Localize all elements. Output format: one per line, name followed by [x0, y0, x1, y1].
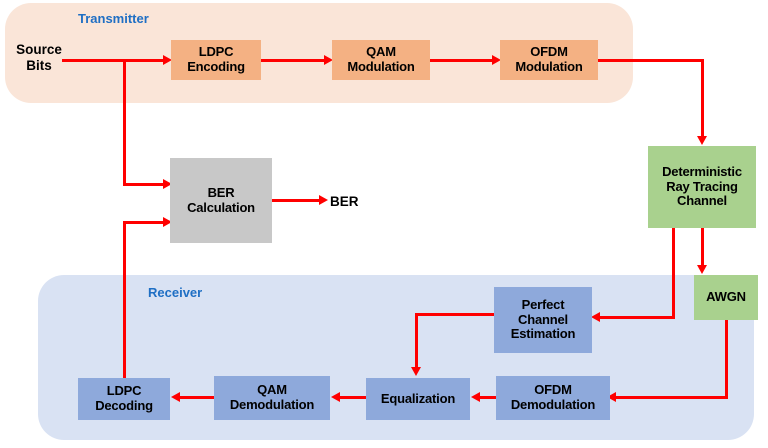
block-ldpc-encoding[interactable]: LDPC Encoding	[171, 40, 261, 80]
block-perfect-channel-estimation[interactable]: Perfect Channel Estimation	[494, 287, 592, 353]
block-qam-demodulation[interactable]: QAM Demodulation	[214, 376, 330, 420]
connector-channel-to-awgn	[701, 228, 704, 267]
block-ofdm-modulation[interactable]: OFDM Modulation	[500, 40, 598, 80]
connector-equalization-to-qam-demodulation	[339, 396, 367, 399]
connector-estimation-to-equalization-horizontal	[415, 313, 497, 316]
connector-ldpc-decoding-to-ber-horizontal	[123, 221, 167, 224]
block-label-ldpc-encoding: LDPC Encoding	[171, 45, 261, 74]
connector-awgn-to-ofdm-demodulation-horizontal	[615, 396, 727, 399]
block-deterministic-ray-tracing-channel[interactable]: Deterministic Ray Tracing Channel	[648, 146, 756, 228]
connector-awgn-to-ofdm-demodulation-vertical	[725, 320, 728, 399]
connector-qam-demodulation-to-ldpc-decoding	[179, 396, 215, 399]
block-diagram-canvas: Transmitter Receiver	[0, 0, 768, 448]
block-ber-calculation[interactable]: BER Calculation	[170, 158, 272, 243]
block-awgn[interactable]: AWGN	[694, 275, 758, 320]
block-label-qam-demodulation: QAM Demodulation	[214, 383, 330, 412]
connector-source-branch-horizontal	[123, 183, 167, 186]
label-source-bits: Source Bits	[6, 42, 72, 73]
block-qam-modulation[interactable]: QAM Modulation	[332, 40, 430, 80]
label-ber-output: BER	[330, 194, 372, 210]
block-ldpc-decoding[interactable]: LDPC Decoding	[78, 378, 170, 420]
block-label-ofdm-demodulation: OFDM Demodulation	[496, 383, 610, 412]
arrowhead-ofdm-demodulation-to-equalization	[471, 392, 480, 402]
block-ofdm-demodulation[interactable]: OFDM Demodulation	[496, 376, 610, 420]
connector-ofdm-demodulation-to-equalization	[479, 396, 497, 399]
block-label-perfect-channel-estimation: Perfect Channel Estimation	[494, 298, 592, 342]
arrowhead-ofdm-modulation-to-channel	[697, 136, 707, 145]
block-label-deterministic-ray-tracing-channel: Deterministic Ray Tracing Channel	[648, 165, 756, 209]
block-label-awgn: AWGN	[694, 290, 758, 305]
connector-source-branch-vertical	[123, 59, 126, 186]
connector-ofdm-modulation-to-channel-horizontal	[598, 59, 704, 62]
connector-ldpc-decoding-to-ber-vertical	[123, 221, 126, 379]
connector-ldpc-encoding-to-qam-modulation	[261, 59, 327, 62]
connector-ber-calculation-to-output	[272, 199, 322, 202]
connector-channel-to-estimation-horizontal	[599, 316, 675, 319]
connector-channel-to-estimation-vertical	[672, 228, 675, 318]
panel-label-receiver: Receiver	[148, 285, 202, 300]
block-label-ber-calculation: BER Calculation	[170, 186, 272, 215]
arrowhead-channel-to-estimation	[591, 312, 600, 322]
arrowhead-channel-to-awgn	[697, 265, 707, 274]
arrowhead-ber-calculation-to-output	[319, 195, 328, 205]
panel-label-transmitter: Transmitter	[78, 11, 149, 26]
connector-source-to-ldpc-encoding	[62, 59, 166, 62]
connector-estimation-to-equalization-vertical	[415, 313, 418, 369]
block-equalization[interactable]: Equalization	[366, 378, 470, 420]
arrowhead-equalization-to-qam-demodulation	[331, 392, 340, 402]
connector-ofdm-modulation-to-channel-vertical	[701, 59, 704, 138]
arrowhead-estimation-to-equalization	[411, 367, 421, 376]
block-label-equalization: Equalization	[366, 392, 470, 407]
block-label-ofdm-modulation: OFDM Modulation	[500, 45, 598, 74]
block-label-qam-modulation: QAM Modulation	[332, 45, 430, 74]
block-label-ldpc-decoding: LDPC Decoding	[78, 384, 170, 413]
connector-qam-modulation-to-ofdm-modulation	[430, 59, 495, 62]
arrowhead-qam-demodulation-to-ldpc-decoding	[171, 392, 180, 402]
